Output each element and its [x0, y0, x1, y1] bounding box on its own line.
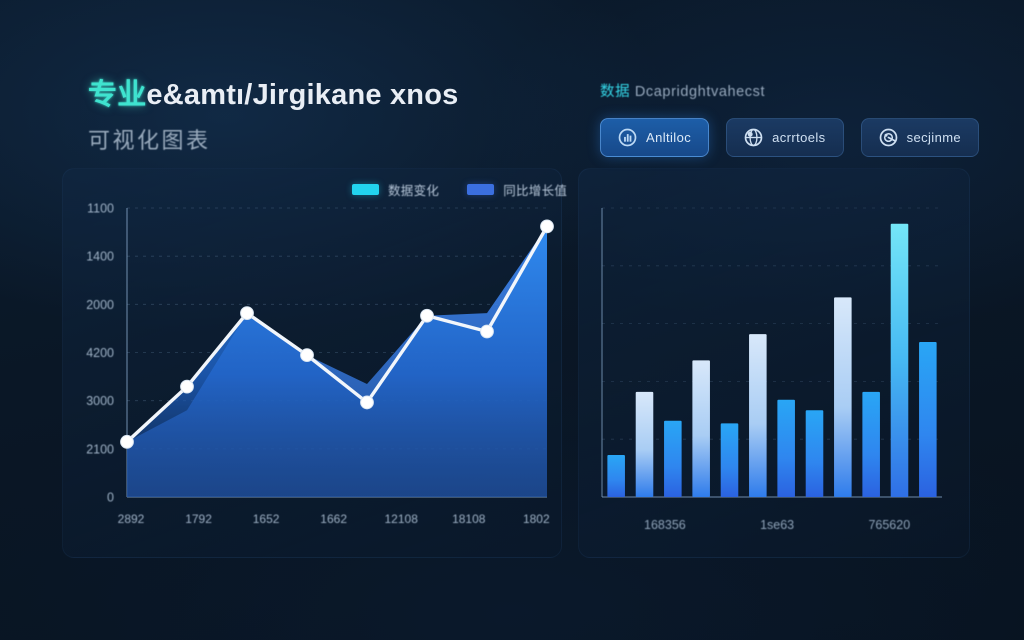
bar-chart-x-axis-labels: 1683561se63765620: [644, 518, 910, 532]
svg-text:18108: 18108: [452, 512, 486, 526]
toolbar-caption: 数据 Dcapridghtvahecst: [600, 80, 950, 101]
app-background: 专业e&amtı/Jirgikane xnos 可视化图表 数据 Dcaprid…: [0, 0, 1024, 640]
svg-text:2892: 2892: [118, 512, 145, 526]
svg-text:0: 0: [107, 491, 114, 505]
toolbar-block: 数据 Dcapridghtvahecst Anltiloc: [600, 80, 950, 157]
toolbar-button-label: secjinme: [907, 130, 962, 145]
globe-circle-icon: [744, 128, 763, 147]
svg-text:1652: 1652: [253, 512, 280, 526]
line-chart-x-axis-labels: 289217921652166212108181081802: [118, 512, 550, 526]
toolbar-button-analytics[interactable]: Anltiloc: [600, 118, 709, 157]
page-title: 专业e&amtı/Jirgikane xnos: [88, 78, 518, 112]
svg-text:1802: 1802: [523, 512, 550, 526]
svg-text:1792: 1792: [185, 512, 212, 526]
toolbar-caption-rest: Dcapridghtvahecst: [635, 84, 765, 100]
toolbar-button-label: Anltiloc: [646, 130, 691, 145]
svg-text:168356: 168356: [644, 518, 686, 532]
svg-text:1se63: 1se63: [760, 518, 794, 532]
line-chart-areas: [127, 226, 547, 497]
svg-text:1400: 1400: [86, 250, 114, 264]
page-subtitle: 可视化图表: [88, 123, 518, 155]
svg-text:765620: 765620: [868, 518, 910, 532]
chart-circle-icon: [618, 128, 637, 147]
svg-text:2000: 2000: [86, 298, 114, 312]
toolbar-button-globe[interactable]: acrrtoels: [726, 118, 843, 157]
page-title-accent: 专业: [88, 79, 146, 111]
svg-text:3000: 3000: [86, 394, 114, 408]
toolbar-caption-accent: 数据: [600, 84, 630, 100]
line-chart-y-axis-labels: 1100140020004200300021000: [86, 202, 114, 505]
toolbar-button-row: Anltiloc acrrtoels: [600, 118, 950, 157]
header-block: 专业e&amtı/Jirgikane xnos 可视化图表: [88, 78, 518, 155]
line-chart[interactable]: 1100140020004200300021000 28921792165216…: [62, 190, 567, 540]
svg-text:1100: 1100: [87, 202, 114, 216]
toolbar-button-label: acrrtoels: [772, 130, 825, 145]
svg-text:1662: 1662: [320, 512, 347, 526]
toolbar-button-target[interactable]: secjinme: [861, 118, 980, 157]
svg-text:4200: 4200: [86, 346, 114, 360]
bar-chart-bars: [607, 224, 936, 497]
svg-text:12108: 12108: [385, 512, 419, 526]
page-title-rest: e&amtı/Jirgikane xnos: [146, 79, 458, 111]
svg-text:2100: 2100: [86, 442, 114, 456]
target-circle-icon: [879, 128, 898, 147]
bar-chart[interactable]: 1683561se63765620: [580, 190, 970, 540]
